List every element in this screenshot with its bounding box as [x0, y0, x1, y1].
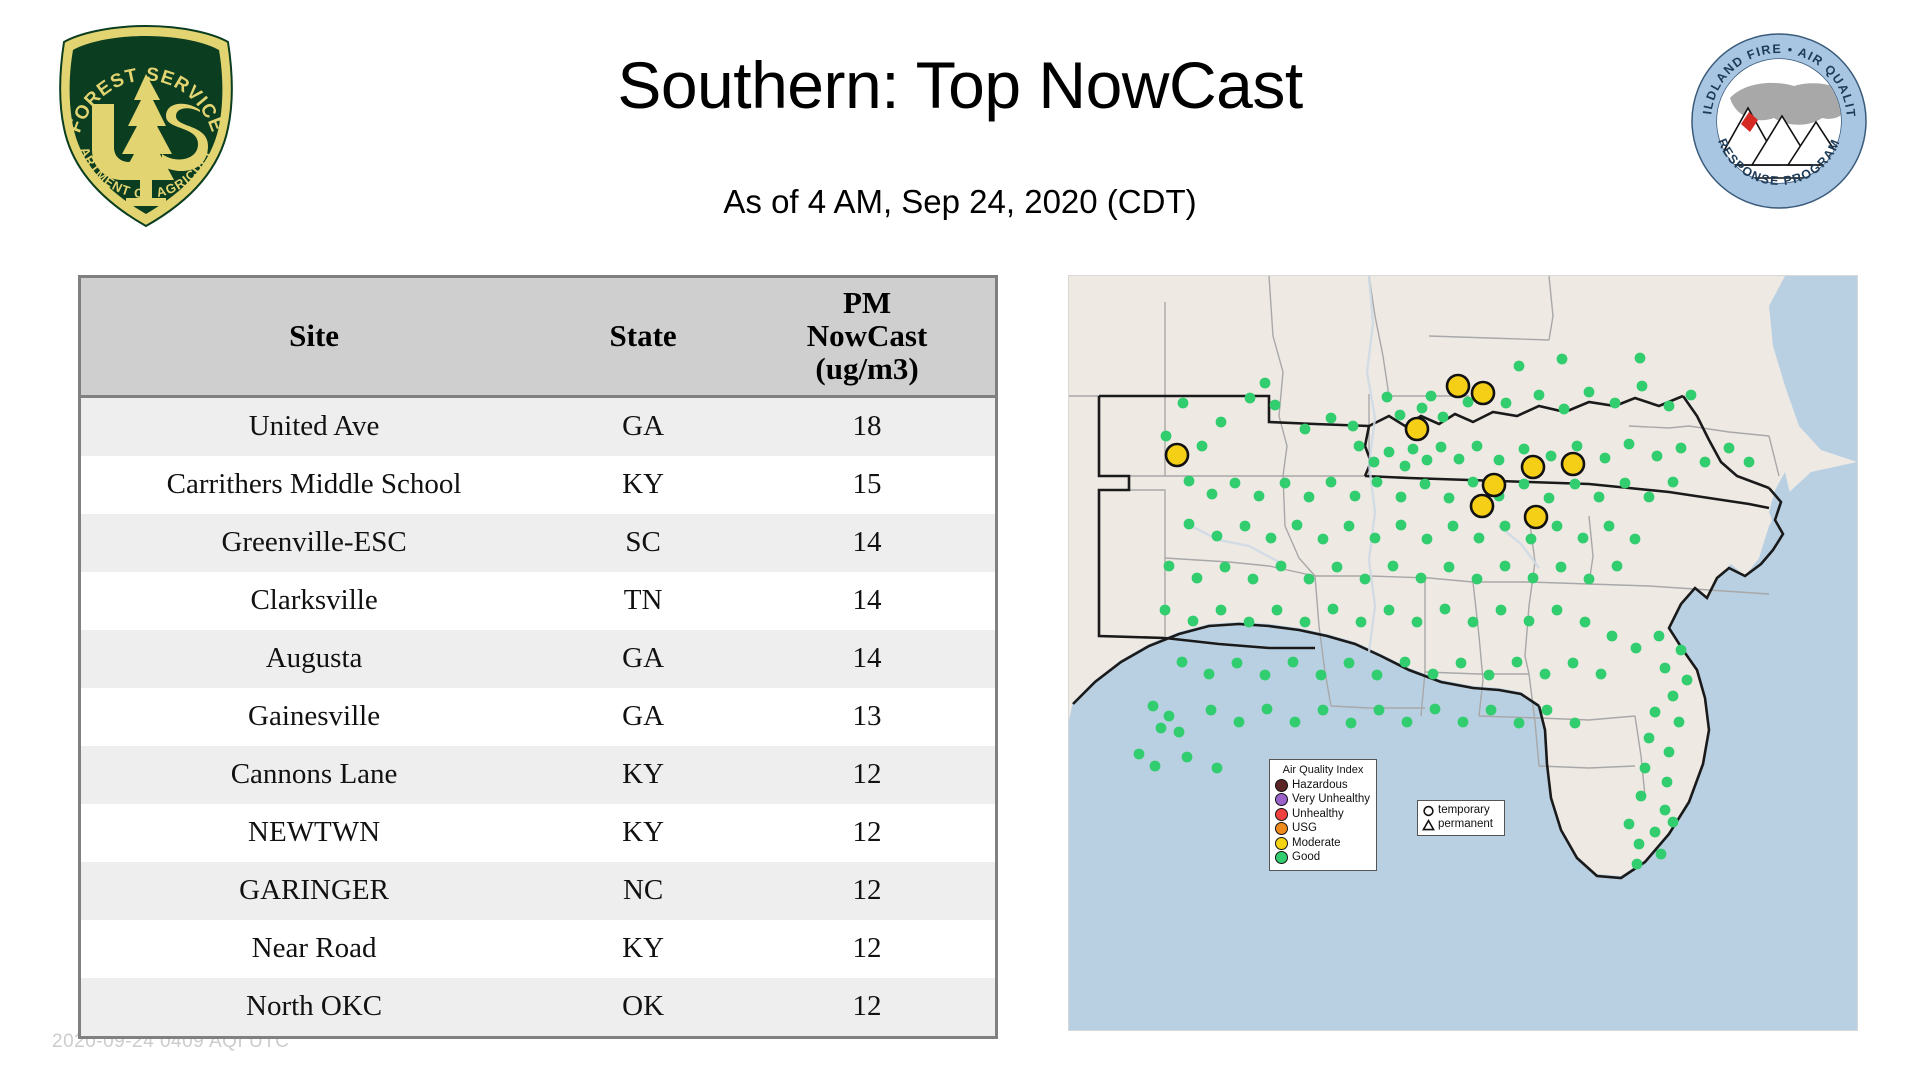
map-marker-good[interactable]	[1652, 451, 1663, 462]
map-marker-good[interactable]	[1624, 819, 1635, 830]
map-marker-good[interactable]	[1610, 398, 1621, 409]
map-marker-good[interactable]	[1456, 658, 1467, 669]
map-marker-good[interactable]	[1632, 859, 1643, 870]
map-marker-good[interactable]	[1197, 441, 1208, 452]
table-row[interactable]: United Ave GA 18	[81, 396, 995, 456]
aqi-legend-label: Unhealthy	[1292, 809, 1344, 821]
table-row[interactable]: Near Road KY 12	[81, 920, 995, 978]
aqi-legend-label: USG	[1292, 823, 1317, 835]
cell-value: 12	[739, 746, 995, 804]
map-marker-good[interactable]	[1674, 717, 1685, 728]
map-marker-good[interactable]	[1300, 424, 1311, 435]
map-marker-good[interactable]	[1188, 616, 1199, 627]
map-marker-good[interactable]	[1230, 478, 1241, 489]
map-marker-good[interactable]	[1430, 704, 1441, 715]
map-marker-good[interactable]	[1634, 839, 1645, 850]
map-marker-moderate[interactable]	[1471, 495, 1493, 517]
aqi-swatch-usg	[1275, 822, 1288, 835]
map-marker-good[interactable]	[1668, 817, 1679, 828]
map-marker-good[interactable]	[1636, 791, 1647, 802]
map-marker-good[interactable]	[1660, 663, 1671, 674]
map-marker-good[interactable]	[1348, 421, 1359, 432]
cell-state: TN	[547, 572, 739, 630]
map-marker-good[interactable]	[1400, 657, 1411, 668]
map-marker-good[interactable]	[1612, 561, 1623, 572]
cell-value: 14	[739, 514, 995, 572]
map-marker-good[interactable]	[1496, 605, 1507, 616]
column-header-site[interactable]: Site	[81, 278, 547, 396]
map-marker-good[interactable]	[1292, 520, 1303, 531]
map-marker-good[interactable]	[1384, 447, 1395, 458]
map-marker-good[interactable]	[1570, 718, 1581, 729]
pm-header-line-2: NowCast	[807, 318, 928, 353]
cell-site: North OKC	[81, 978, 547, 1036]
aqi-swatch-good	[1275, 851, 1288, 864]
map-marker-good[interactable]	[1426, 391, 1437, 402]
map-marker-layer	[1069, 276, 1857, 1030]
map-marker-good[interactable]	[1519, 444, 1530, 455]
cell-state: GA	[547, 688, 739, 746]
wfaqrp-logo: WILDLAND FIRE • AIR QUALITY RESPONSE PRO…	[1690, 32, 1868, 210]
map-marker-good[interactable]	[1578, 533, 1589, 544]
map-marker-good[interactable]	[1607, 631, 1618, 642]
map-marker-good[interactable]	[1318, 705, 1329, 716]
map-marker-good[interactable]	[1644, 733, 1655, 744]
map-marker-good[interactable]	[1468, 617, 1479, 628]
map-marker-good[interactable]	[1318, 534, 1329, 545]
pm-header-line-3: (ug/m3)	[815, 351, 918, 386]
aqi-legend-item-very-unhealthy: Very Unhealthy	[1275, 793, 1371, 808]
map-marker-good[interactable]	[1440, 604, 1451, 615]
map-marker-good[interactable]	[1519, 479, 1530, 490]
cell-value: 12	[739, 920, 995, 978]
aqi-legend-label: Hazardous	[1292, 780, 1348, 792]
cell-value: 15	[739, 456, 995, 514]
map-marker-good[interactable]	[1417, 403, 1428, 414]
map-marker-good[interactable]	[1164, 711, 1175, 722]
map-marker-good[interactable]	[1396, 520, 1407, 531]
aqi-legend-item-hazardous: Hazardous	[1275, 778, 1371, 793]
map-marker-moderate[interactable]	[1525, 506, 1547, 528]
circle-icon	[1422, 805, 1435, 818]
map-marker-good[interactable]	[1388, 561, 1399, 572]
map-marker-good[interactable]	[1369, 457, 1380, 468]
cell-site: NEWTWN	[81, 804, 547, 862]
map-marker-good[interactable]	[1468, 477, 1479, 488]
map-marker-good[interactable]	[1182, 752, 1193, 763]
map-marker-good[interactable]	[1552, 521, 1563, 532]
map-marker-good[interactable]	[1164, 561, 1175, 572]
map-marker-good[interactable]	[1412, 617, 1423, 628]
map-marker-good[interactable]	[1288, 657, 1299, 668]
cell-state: KY	[547, 920, 739, 978]
map-marker-good[interactable]	[1148, 701, 1159, 712]
map-marker-good[interactable]	[1276, 561, 1287, 572]
map-marker-good[interactable]	[1428, 669, 1439, 680]
cell-value: 12	[739, 978, 995, 1036]
map-marker-good[interactable]	[1328, 604, 1339, 615]
cell-state: KY	[547, 804, 739, 862]
map-marker-good[interactable]	[1744, 457, 1755, 468]
map-marker-good[interactable]	[1624, 439, 1635, 450]
map-marker-good[interactable]	[1552, 605, 1563, 616]
map-marker-good[interactable]	[1664, 401, 1675, 412]
cell-state: GA	[547, 396, 739, 456]
map-marker-good[interactable]	[1280, 478, 1291, 489]
map-marker-good[interactable]	[1644, 492, 1655, 503]
map-marker-good[interactable]	[1559, 404, 1570, 415]
map-marker-good[interactable]	[1594, 492, 1605, 503]
map-marker-good[interactable]	[1350, 491, 1361, 502]
map-marker-good[interactable]	[1572, 441, 1583, 452]
map-marker-good[interactable]	[1514, 361, 1525, 372]
aqi-map[interactable]: Air Quality Index Hazardous Very Unhealt…	[1068, 275, 1858, 1031]
aqi-swatch-hazardous	[1275, 779, 1288, 792]
site-legend-label: temporary	[1438, 805, 1490, 817]
map-marker-good[interactable]	[1724, 443, 1735, 454]
site-legend-item-temporary: temporary	[1422, 804, 1500, 818]
map-marker-good[interactable]	[1524, 616, 1535, 627]
map-marker-good[interactable]	[1332, 562, 1343, 573]
map-marker-good[interactable]	[1354, 441, 1365, 452]
cell-state: SC	[547, 514, 739, 572]
map-marker-good[interactable]	[1556, 562, 1567, 573]
map-marker-good[interactable]	[1600, 453, 1611, 464]
page-subtitle: As of 4 AM, Sep 24, 2020 (CDT)	[0, 185, 1920, 218]
map-marker-good[interactable]	[1300, 617, 1311, 628]
map-marker-good[interactable]	[1660, 805, 1671, 816]
map-marker-good[interactable]	[1528, 573, 1539, 584]
map-marker-good[interactable]	[1382, 392, 1393, 403]
map-marker-good[interactable]	[1272, 605, 1283, 616]
map-marker-good[interactable]	[1184, 476, 1195, 487]
cell-state: KY	[547, 746, 739, 804]
map-marker-good[interactable]	[1474, 533, 1485, 544]
cell-value: 12	[739, 804, 995, 862]
map-marker-good[interactable]	[1662, 777, 1673, 788]
map-marker-good[interactable]	[1396, 492, 1407, 503]
map-marker-good[interactable]	[1438, 412, 1449, 423]
map-marker-good[interactable]	[1422, 534, 1433, 545]
map-marker-good[interactable]	[1346, 718, 1357, 729]
map-marker-good[interactable]	[1254, 491, 1265, 502]
aqi-legend-label: Good	[1292, 852, 1320, 864]
map-marker-good[interactable]	[1542, 705, 1553, 716]
table-row[interactable]: Gainesville GA 13	[81, 688, 995, 746]
map-marker-good[interactable]	[1635, 353, 1646, 364]
cell-state: GA	[547, 630, 739, 688]
map-marker-good[interactable]	[1416, 573, 1427, 584]
table-row[interactable]: North OKC OK 12	[81, 978, 995, 1036]
map-marker-good[interactable]	[1512, 657, 1523, 668]
cell-state: OK	[547, 978, 739, 1036]
map-marker-good[interactable]	[1304, 574, 1315, 585]
aqi-swatch-unhealthy	[1275, 808, 1288, 821]
map-marker-good[interactable]	[1668, 691, 1679, 702]
map-marker-good[interactable]	[1676, 645, 1687, 656]
map-marker-good[interactable]	[1232, 658, 1243, 669]
map-marker-good[interactable]	[1174, 727, 1185, 738]
aqi-legend-item-good: Good	[1275, 851, 1371, 866]
map-marker-good[interactable]	[1372, 477, 1383, 488]
map-marker-good[interactable]	[1290, 717, 1301, 728]
map-marker-good[interactable]	[1631, 643, 1642, 654]
map-marker-good[interactable]	[1570, 479, 1581, 490]
map-marker-good[interactable]	[1326, 413, 1337, 424]
map-marker-good[interactable]	[1544, 493, 1555, 504]
cell-site: United Ave	[81, 396, 547, 456]
map-marker-good[interactable]	[1402, 717, 1413, 728]
map-marker-good[interactable]	[1245, 393, 1256, 404]
cell-site: Augusta	[81, 630, 547, 688]
cell-site: Near Road	[81, 920, 547, 978]
map-marker-good[interactable]	[1472, 574, 1483, 585]
table-row[interactable]: Carrithers Middle School KY 15	[81, 456, 995, 514]
table-row[interactable]: GARINGER NC 12	[81, 862, 995, 920]
map-marker-good[interactable]	[1316, 670, 1327, 681]
map-marker-good[interactable]	[1184, 519, 1195, 530]
site-legend-label: permanent	[1438, 819, 1493, 831]
map-marker-good[interactable]	[1248, 574, 1259, 585]
map-marker-good[interactable]	[1260, 670, 1271, 681]
map-marker-good[interactable]	[1534, 390, 1545, 401]
map-marker-good[interactable]	[1206, 705, 1217, 716]
aqi-legend-item-moderate: Moderate	[1275, 836, 1371, 851]
column-header-state[interactable]: State	[547, 278, 739, 396]
pm-header-line-1: PM	[843, 285, 891, 320]
map-marker-good[interactable]	[1501, 398, 1512, 409]
map-marker-good[interactable]	[1444, 493, 1455, 504]
table-header-row: Site State PM NowCast (ug/m3)	[81, 278, 995, 396]
map-marker-good[interactable]	[1207, 489, 1218, 500]
aqi-legend-item-usg: USG	[1275, 822, 1371, 837]
map-marker-good[interactable]	[1395, 410, 1406, 421]
aqi-legend: Air Quality Index Hazardous Very Unhealt…	[1269, 759, 1377, 871]
map-marker-good[interactable]	[1637, 381, 1648, 392]
map-marker-good[interactable]	[1156, 723, 1167, 734]
map-marker-good[interactable]	[1458, 717, 1469, 728]
cell-value: 18	[739, 396, 995, 456]
map-marker-good[interactable]	[1212, 763, 1223, 774]
aqi-swatch-very-unhealthy	[1275, 793, 1288, 806]
map-marker-good[interactable]	[1326, 477, 1337, 488]
site-legend-item-permanent: permanent	[1422, 818, 1500, 832]
aqi-legend-item-unhealthy: Unhealthy	[1275, 807, 1371, 822]
map-marker-good[interactable]	[1420, 479, 1431, 490]
map-marker-good[interactable]	[1204, 669, 1215, 680]
cell-value: 13	[739, 688, 995, 746]
map-marker-good[interactable]	[1408, 444, 1419, 455]
map-marker-good[interactable]	[1540, 669, 1551, 680]
map-marker-good[interactable]	[1472, 441, 1483, 452]
map-marker-good[interactable]	[1650, 827, 1661, 838]
page-title: Southern: Top NowCast	[0, 52, 1920, 118]
map-marker-good[interactable]	[1344, 521, 1355, 532]
map-marker-good[interactable]	[1304, 492, 1315, 503]
map-marker-good[interactable]	[1500, 561, 1511, 572]
cell-value: 14	[739, 572, 995, 630]
map-marker-moderate[interactable]	[1406, 418, 1428, 440]
map-marker-good[interactable]	[1650, 707, 1661, 718]
map-marker-good[interactable]	[1370, 533, 1381, 544]
map-marker-moderate[interactable]	[1562, 453, 1584, 475]
cell-value: 12	[739, 862, 995, 920]
map-marker-good[interactable]	[1422, 455, 1433, 466]
map-marker-good[interactable]	[1400, 461, 1411, 472]
top-nowcast-table: Site State PM NowCast (ug/m3) United Ave…	[78, 275, 998, 1039]
aqi-legend-title: Air Quality Index	[1275, 764, 1371, 776]
map-marker-good[interactable]	[1220, 562, 1231, 573]
map-marker-good[interactable]	[1444, 562, 1455, 573]
map-marker-good[interactable]	[1454, 454, 1465, 465]
table-row[interactable]: Cannons Lane KY 12	[81, 746, 995, 804]
map-marker-moderate[interactable]	[1472, 382, 1494, 404]
map-marker-good[interactable]	[1436, 442, 1447, 453]
map-marker-good[interactable]	[1262, 704, 1273, 715]
map-marker-good[interactable]	[1686, 390, 1697, 401]
aqi-legend-label: Very Unhealthy	[1292, 794, 1370, 806]
map-marker-good[interactable]	[1676, 443, 1687, 454]
table-row[interactable]: Clarksville TN 14	[81, 572, 995, 630]
map-marker-good[interactable]	[1484, 670, 1495, 681]
map-marker-good[interactable]	[1192, 573, 1203, 584]
cell-site: Clarksville	[81, 572, 547, 630]
map-marker-good[interactable]	[1216, 605, 1227, 616]
map-marker-good[interactable]	[1494, 455, 1505, 466]
map-marker-good[interactable]	[1486, 705, 1497, 716]
table-row[interactable]: Greenville-ESC SC 14	[81, 514, 995, 572]
slide: FOREST SERVICE DEPARTMENT OF AGRICULTURE…	[0, 0, 1920, 1080]
map-marker-good[interactable]	[1546, 451, 1557, 462]
map-marker-good[interactable]	[1620, 478, 1631, 489]
map-marker-good[interactable]	[1580, 617, 1591, 628]
map-marker-good[interactable]	[1514, 718, 1525, 729]
cell-site: Carrithers Middle School	[81, 456, 547, 514]
map-marker-good[interactable]	[1161, 431, 1172, 442]
map-marker-good[interactable]	[1557, 354, 1568, 365]
cell-site: Cannons Lane	[81, 746, 547, 804]
site-type-legend: temporary permanent	[1417, 800, 1505, 836]
map-marker-good[interactable]	[1584, 574, 1595, 585]
map-marker-good[interactable]	[1700, 457, 1711, 468]
map-marker-good[interactable]	[1668, 477, 1679, 488]
map-marker-good[interactable]	[1630, 534, 1641, 545]
map-marker-good[interactable]	[1240, 521, 1251, 532]
table-body: United Ave GA 18 Carrithers Middle Schoo…	[81, 396, 995, 1036]
map-marker-moderate[interactable]	[1522, 456, 1544, 478]
map-marker-good[interactable]	[1526, 534, 1537, 545]
map-marker-good[interactable]	[1266, 533, 1277, 544]
map-marker-good[interactable]	[1384, 605, 1395, 616]
map-marker-good[interactable]	[1664, 747, 1675, 758]
column-header-pm-nowcast[interactable]: PM NowCast (ug/m3)	[739, 278, 995, 396]
map-marker-good[interactable]	[1177, 657, 1188, 668]
map-marker-good[interactable]	[1260, 378, 1271, 389]
triangle-icon	[1422, 819, 1435, 832]
map-marker-good[interactable]	[1463, 397, 1474, 408]
table-row[interactable]: Augusta GA 14	[81, 630, 995, 688]
aqi-swatch-moderate	[1275, 837, 1288, 850]
cell-state: NC	[547, 862, 739, 920]
map-marker-good[interactable]	[1372, 670, 1383, 681]
map-marker-good[interactable]	[1640, 763, 1651, 774]
map-marker-good[interactable]	[1178, 398, 1189, 409]
map-marker-good[interactable]	[1374, 705, 1385, 716]
table-row[interactable]: NEWTWN KY 12	[81, 804, 995, 862]
map-marker-good[interactable]	[1584, 387, 1595, 398]
map-marker-good[interactable]	[1654, 631, 1665, 642]
map-marker-good[interactable]	[1656, 849, 1667, 860]
map-marker-good[interactable]	[1448, 521, 1459, 532]
map-marker-good[interactable]	[1356, 617, 1367, 628]
aqi-legend-label: Moderate	[1292, 838, 1341, 850]
map-marker-good[interactable]	[1150, 761, 1161, 772]
cell-site: GARINGER	[81, 862, 547, 920]
map-marker-good[interactable]	[1160, 605, 1171, 616]
map-marker-good[interactable]	[1216, 417, 1227, 428]
map-marker-good[interactable]	[1270, 400, 1281, 411]
cell-site: Greenville-ESC	[81, 514, 547, 572]
map-marker-good[interactable]	[1604, 521, 1615, 532]
map-marker-moderate[interactable]	[1483, 474, 1505, 496]
map-marker-good[interactable]	[1682, 675, 1693, 686]
map-marker-good[interactable]	[1134, 749, 1145, 760]
map-marker-moderate[interactable]	[1447, 375, 1469, 397]
map-marker-good[interactable]	[1212, 531, 1223, 542]
cell-state: KY	[547, 456, 739, 514]
map-marker-good[interactable]	[1568, 658, 1579, 669]
map-marker-good[interactable]	[1234, 717, 1245, 728]
cell-site: Gainesville	[81, 688, 547, 746]
cell-value: 14	[739, 630, 995, 688]
map-marker-moderate[interactable]	[1166, 444, 1188, 466]
map-marker-good[interactable]	[1596, 669, 1607, 680]
map-marker-good[interactable]	[1360, 574, 1371, 585]
map-marker-good[interactable]	[1244, 617, 1255, 628]
map-marker-good[interactable]	[1344, 658, 1355, 669]
map-marker-good[interactable]	[1500, 521, 1511, 532]
